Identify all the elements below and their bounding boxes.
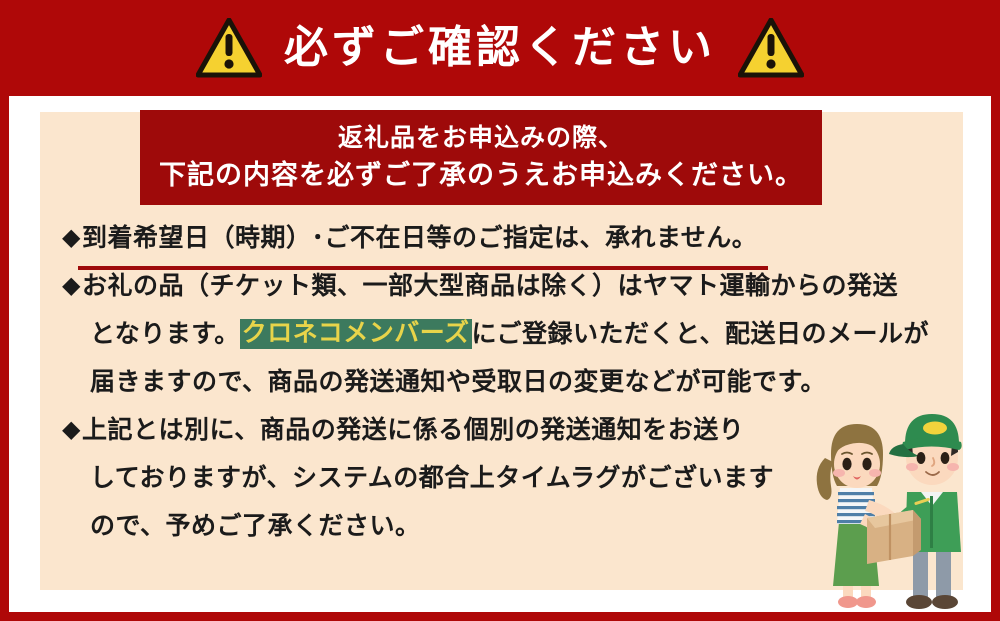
notice-line-1-text: 到着希望日（時期）･ご不在日等のご指定は、承れません。 <box>82 226 757 251</box>
notice-line-4: 届きますので、商品の発送通知や受取日の変更などが可能です。 <box>62 358 952 406</box>
sub-banner-line-1: 返礼品をお申込みの際、 <box>338 120 624 156</box>
page-title: 必ずご確認ください <box>284 26 716 70</box>
notice-line-1: ◆ 到着希望日（時期）･ご不在日等のご指定は、承れません。 <box>62 214 952 262</box>
notice-line-6-text: しておりますが、システムの都合上タイムラグがございます <box>90 466 774 491</box>
warning-triangle-icon-left <box>196 18 262 78</box>
frame-border-bottom <box>0 612 1000 621</box>
notice-page: 必ずご確認ください 返礼品をお申込みの際、 下記の内容を必ずご了承のうえお申込み… <box>0 0 1000 621</box>
notice-line-3-text-before: となります。 <box>90 322 240 347</box>
notice-line-2: ◆ お礼の品（チケット類、一部大型商品は除く）はヤマト運輸からの発送 <box>62 262 952 310</box>
notice-line-3: となります。 クロネコメンバーズ にご登録いただくと、配送日のメールが <box>62 310 952 358</box>
bullet-diamond: ◆ <box>62 418 81 442</box>
notice-line-4-text: 届きますので、商品の発送通知や受取日の変更などが可能です。 <box>90 370 826 395</box>
warning-triangle-icon-right <box>738 18 804 78</box>
header-banner: 必ずご確認ください <box>0 0 1000 96</box>
bullet-diamond: ◆ <box>62 274 81 298</box>
delivery-handover-illustration <box>795 400 980 612</box>
notice-line-2-text: お礼の品（チケット類、一部大型商品は除く）はヤマト運輸からの発送 <box>82 274 898 299</box>
notice-line-3-text-after: にご登録いただくと、配送日のメールが <box>472 322 930 347</box>
notice-line-7-text: ので、予めご了承ください。 <box>90 514 421 539</box>
kuroneko-members-highlight: クロネコメンバーズ <box>240 319 472 349</box>
frame-border-right <box>991 0 1000 621</box>
frame-border-left <box>0 0 9 621</box>
sub-banner-line-2: 下記の内容を必ずご了承のうえお申込みください。 <box>159 156 803 195</box>
notice-line-5-text: 上記とは別に、商品の発送に係る個別の発送通知をお送り <box>82 418 744 443</box>
bullet-diamond: ◆ <box>62 226 81 250</box>
sub-banner: 返礼品をお申込みの際、 下記の内容を必ずご了承のうえお申込みください。 <box>140 110 822 205</box>
